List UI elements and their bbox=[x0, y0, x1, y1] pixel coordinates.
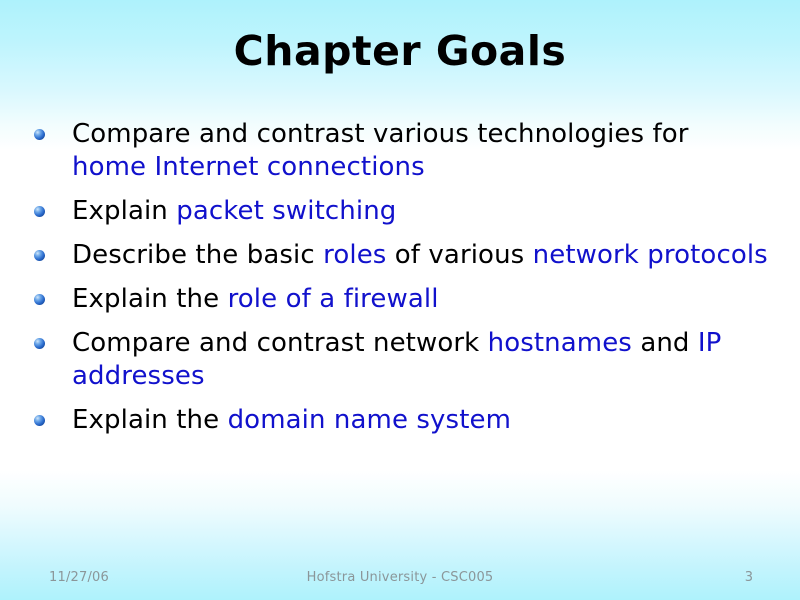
blue-sphere-bullet-icon bbox=[34, 294, 45, 305]
list-item-text: Describe the basic roles of various netw… bbox=[45, 239, 770, 272]
highlighted-term: hostnames bbox=[488, 328, 632, 358]
list-item: Describe the basic roles of various netw… bbox=[34, 239, 770, 272]
list-item-text: Compare and contrast network hostnames a… bbox=[45, 327, 770, 393]
list-item-text: Explain packet switching bbox=[45, 195, 770, 228]
list-item: Compare and contrast network hostnames a… bbox=[34, 327, 770, 393]
footer-course-label: Hofstra University - CSC005 bbox=[0, 570, 800, 585]
highlighted-term: domain name system bbox=[228, 405, 511, 435]
highlighted-term: role of a firewall bbox=[228, 284, 439, 314]
list-item-text: Explain the role of a firewall bbox=[45, 283, 770, 316]
plain-text: Compare and contrast various technologie… bbox=[72, 119, 689, 149]
page-title: Chapter Goals bbox=[234, 28, 567, 75]
list-item: Compare and contrast various technologie… bbox=[34, 118, 770, 184]
list-item: Explain packet switching bbox=[34, 195, 770, 228]
highlighted-term: packet switching bbox=[176, 196, 396, 226]
title-area: Chapter Goals bbox=[0, 28, 800, 75]
plain-text: Compare and contrast network bbox=[72, 328, 488, 358]
list-item: Explain the domain name system bbox=[34, 404, 770, 437]
bullet-list: Compare and contrast various technologie… bbox=[34, 118, 770, 448]
highlighted-term: roles bbox=[323, 240, 386, 270]
plain-text: Explain bbox=[72, 196, 176, 226]
highlighted-term: home Internet connections bbox=[72, 152, 425, 182]
presentation-slide: Chapter Goals Compare and contrast vario… bbox=[0, 0, 800, 600]
blue-sphere-bullet-icon bbox=[34, 206, 45, 217]
highlighted-term: network protocols bbox=[533, 240, 768, 270]
list-item-text: Explain the domain name system bbox=[45, 404, 770, 437]
blue-sphere-bullet-icon bbox=[34, 129, 45, 140]
plain-text: Explain the bbox=[72, 405, 228, 435]
plain-text: and bbox=[632, 328, 698, 358]
slide-footer: 11/27/06 Hofstra University - CSC005 3 bbox=[0, 570, 800, 592]
plain-text: Describe the basic bbox=[72, 240, 323, 270]
blue-sphere-bullet-icon bbox=[34, 250, 45, 261]
blue-sphere-bullet-icon bbox=[34, 338, 45, 349]
plain-text: of various bbox=[386, 240, 532, 270]
plain-text: Explain the bbox=[72, 284, 228, 314]
blue-sphere-bullet-icon bbox=[34, 415, 45, 426]
list-item-text: Compare and contrast various technologie… bbox=[45, 118, 770, 184]
list-item: Explain the role of a firewall bbox=[34, 283, 770, 316]
footer-page-number: 3 bbox=[745, 570, 753, 585]
